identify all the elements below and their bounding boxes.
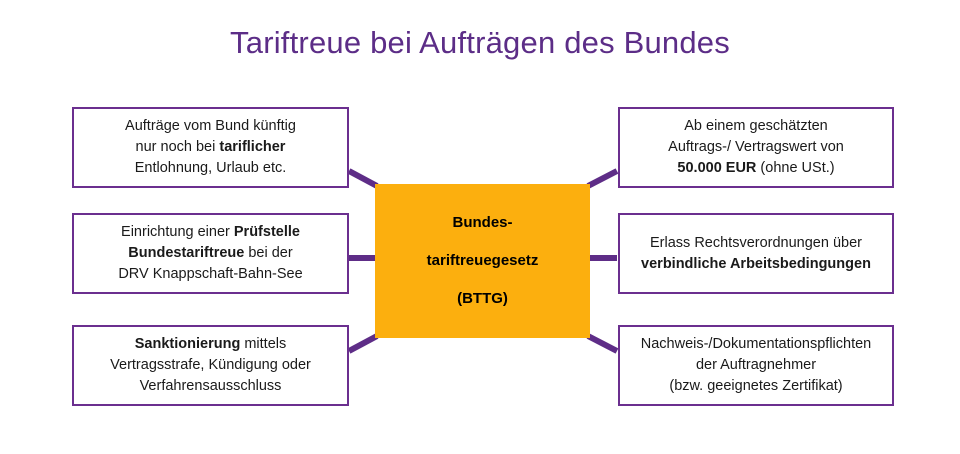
diagram-slide: Tariftreue bei Aufträgen des Bundes Auft… bbox=[0, 0, 960, 454]
connector-left-top bbox=[349, 171, 377, 186]
line-3: DRV Knappschaft-Bahn-See bbox=[118, 266, 302, 282]
node-sanktionierung[interactable]: Sanktionierung mittels Vertragsstrafe, K… bbox=[72, 325, 349, 406]
line-2b: tariflicher bbox=[219, 139, 285, 155]
line-2: Auftrags-/ Vertragswert von bbox=[668, 139, 844, 155]
node-text: Sanktionierung mittels Vertragsstrafe, K… bbox=[74, 334, 347, 397]
line-1a: Sanktionierung bbox=[135, 336, 241, 352]
node-tarifliche-entlohnung[interactable]: Aufträge vom Bund künftig nur noch bei t… bbox=[72, 107, 349, 188]
line-1b: mittels bbox=[240, 336, 286, 352]
center-line-1: Bundes- bbox=[453, 213, 513, 233]
line-3b: (ohne USt.) bbox=[756, 160, 834, 176]
line-3: Verfahrensausschluss bbox=[140, 378, 282, 394]
line-2a: Bundestariftreue bbox=[128, 245, 244, 261]
line-1: Ab einem geschätzten bbox=[684, 118, 827, 134]
line-3: Entlohnung, Urlaub etc. bbox=[135, 160, 287, 176]
node-pruefstelle-bundestariftreue[interactable]: Einrichtung einer Prüfstelle Bundestarif… bbox=[72, 213, 349, 294]
line-2b: bei der bbox=[244, 245, 292, 261]
node-rechtsverordnungen[interactable]: Erlass Rechtsverordnungen über verbindli… bbox=[618, 213, 894, 294]
node-text: Aufträge vom Bund künftig nur noch bei t… bbox=[74, 116, 347, 179]
node-text: Einrichtung einer Prüfstelle Bundestarif… bbox=[74, 222, 347, 285]
line-1: Nachweis-/Dokumentationspflichten bbox=[641, 336, 872, 352]
line-1: Erlass Rechtsverordnungen über bbox=[650, 235, 862, 251]
line-2: verbindliche Arbeitsbedingungen bbox=[641, 256, 871, 272]
line-3a: 50.000 EUR bbox=[677, 160, 756, 176]
line-2: der Auftragnehmer bbox=[696, 357, 816, 373]
line-2: Vertragsstrafe, Kündigung oder bbox=[110, 357, 311, 373]
node-text: Ab einem geschätzten Auftrags-/ Vertrags… bbox=[620, 116, 892, 179]
connector-left-bottom bbox=[349, 336, 377, 351]
line-1b: Prüfstelle bbox=[234, 224, 300, 240]
node-nachweispflichten[interactable]: Nachweis-/Dokumentationspflichten der Au… bbox=[618, 325, 894, 406]
node-auftragswert-schwelle[interactable]: Ab einem geschätzten Auftrags-/ Vertrags… bbox=[618, 107, 894, 188]
connector-right-top bbox=[588, 171, 617, 186]
node-text: Erlass Rechtsverordnungen über verbindli… bbox=[620, 233, 892, 275]
center-line-3: (BTTG) bbox=[457, 289, 508, 309]
line-2a: nur noch bei bbox=[136, 139, 220, 155]
node-text: Nachweis-/Dokumentationspflichten der Au… bbox=[620, 334, 892, 397]
line-1a: Einrichtung einer bbox=[121, 224, 234, 240]
center-line-2: tariftreuegesetz bbox=[427, 251, 539, 271]
line-1: Aufträge vom Bund künftig bbox=[125, 118, 296, 134]
line-3: (bzw. geeignetes Zertifikat) bbox=[669, 378, 842, 394]
node-bundestariftreuegesetz[interactable]: Bundes- tariftreuegesetz (BTTG) bbox=[375, 184, 590, 338]
connector-right-bottom bbox=[588, 336, 617, 351]
